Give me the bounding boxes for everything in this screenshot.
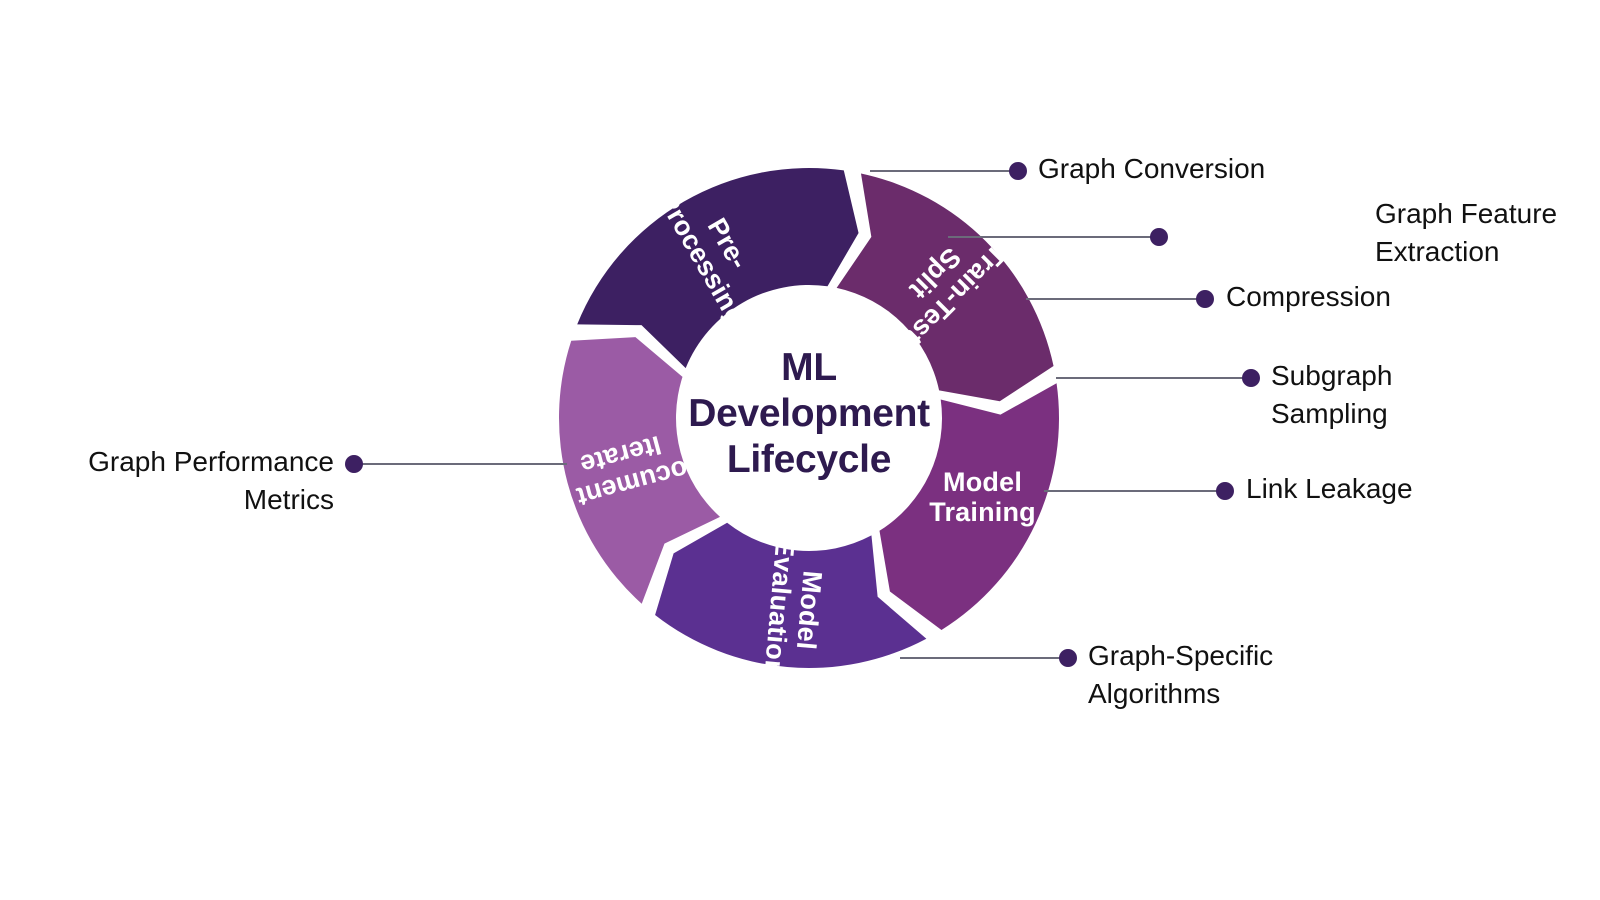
callout-label-line: Graph Performance xyxy=(88,446,334,477)
leader-dot-graph-feature-extraction xyxy=(1150,228,1168,246)
callout-graph-conversion[interactable]: Graph Conversion xyxy=(870,153,1265,184)
callout-label-graph-conversion: Graph Conversion xyxy=(1038,153,1265,184)
segment-label-line: Training xyxy=(929,497,1036,527)
callout-label-link-leakage: Link Leakage xyxy=(1246,473,1413,504)
callout-label-line: Link Leakage xyxy=(1246,473,1413,504)
leader-dot-graph-conversion xyxy=(1009,162,1027,180)
callout-link-leakage[interactable]: Link Leakage xyxy=(1044,473,1413,504)
callout-label-line: Algorithms xyxy=(1088,678,1220,709)
callout-label-line: Subgraph xyxy=(1271,360,1392,391)
leader-dot-graph-specific-algorithms xyxy=(1059,649,1077,667)
ml-lifecycle-diagram: Pre-ProcessingTrain-TestSplitModelTraini… xyxy=(0,0,1600,900)
leader-dot-subgraph-sampling xyxy=(1242,369,1260,387)
center-title-line: Lifecycle xyxy=(727,438,891,481)
leader-dot-link-leakage xyxy=(1216,482,1234,500)
center-title-line: Development xyxy=(688,392,930,435)
callout-graph-specific-algorithms[interactable]: Graph-SpecificAlgorithms xyxy=(900,640,1273,709)
callout-graph-feature-extraction[interactable]: Graph FeatureExtraction xyxy=(948,198,1557,267)
callout-label-subgraph-sampling: SubgraphSampling xyxy=(1271,360,1392,429)
callout-compression[interactable]: Compression xyxy=(1026,281,1391,312)
callout-label-graph-performance-metrics: Graph PerformanceMetrics xyxy=(88,446,334,515)
callout-label-line: Graph Feature xyxy=(1375,198,1557,229)
callout-subgraph-sampling[interactable]: SubgraphSampling xyxy=(1056,360,1392,429)
callout-label-line: Compression xyxy=(1226,281,1391,312)
leader-dot-compression xyxy=(1196,290,1214,308)
segment-label-model-training: ModelTraining xyxy=(929,467,1036,527)
leader-dot-graph-performance-metrics xyxy=(345,455,363,473)
callout-label-line: Metrics xyxy=(244,484,334,515)
callout-label-line: Extraction xyxy=(1375,236,1500,267)
callout-label-graph-feature-extraction: Graph FeatureExtraction xyxy=(1375,198,1557,267)
segment-label-line: Model xyxy=(943,467,1022,497)
callout-label-line: Sampling xyxy=(1271,398,1388,429)
callout-label-graph-specific-algorithms: Graph-SpecificAlgorithms xyxy=(1088,640,1273,709)
callout-graph-performance-metrics[interactable]: Graph PerformanceMetrics xyxy=(88,446,567,515)
callout-label-line: Graph-Specific xyxy=(1088,640,1273,671)
center-title-line: ML xyxy=(781,346,837,389)
callout-label-compression: Compression xyxy=(1226,281,1391,312)
callout-label-line: Graph Conversion xyxy=(1038,153,1265,184)
diagram-canvas: Pre-ProcessingTrain-TestSplitModelTraini… xyxy=(0,0,1600,900)
